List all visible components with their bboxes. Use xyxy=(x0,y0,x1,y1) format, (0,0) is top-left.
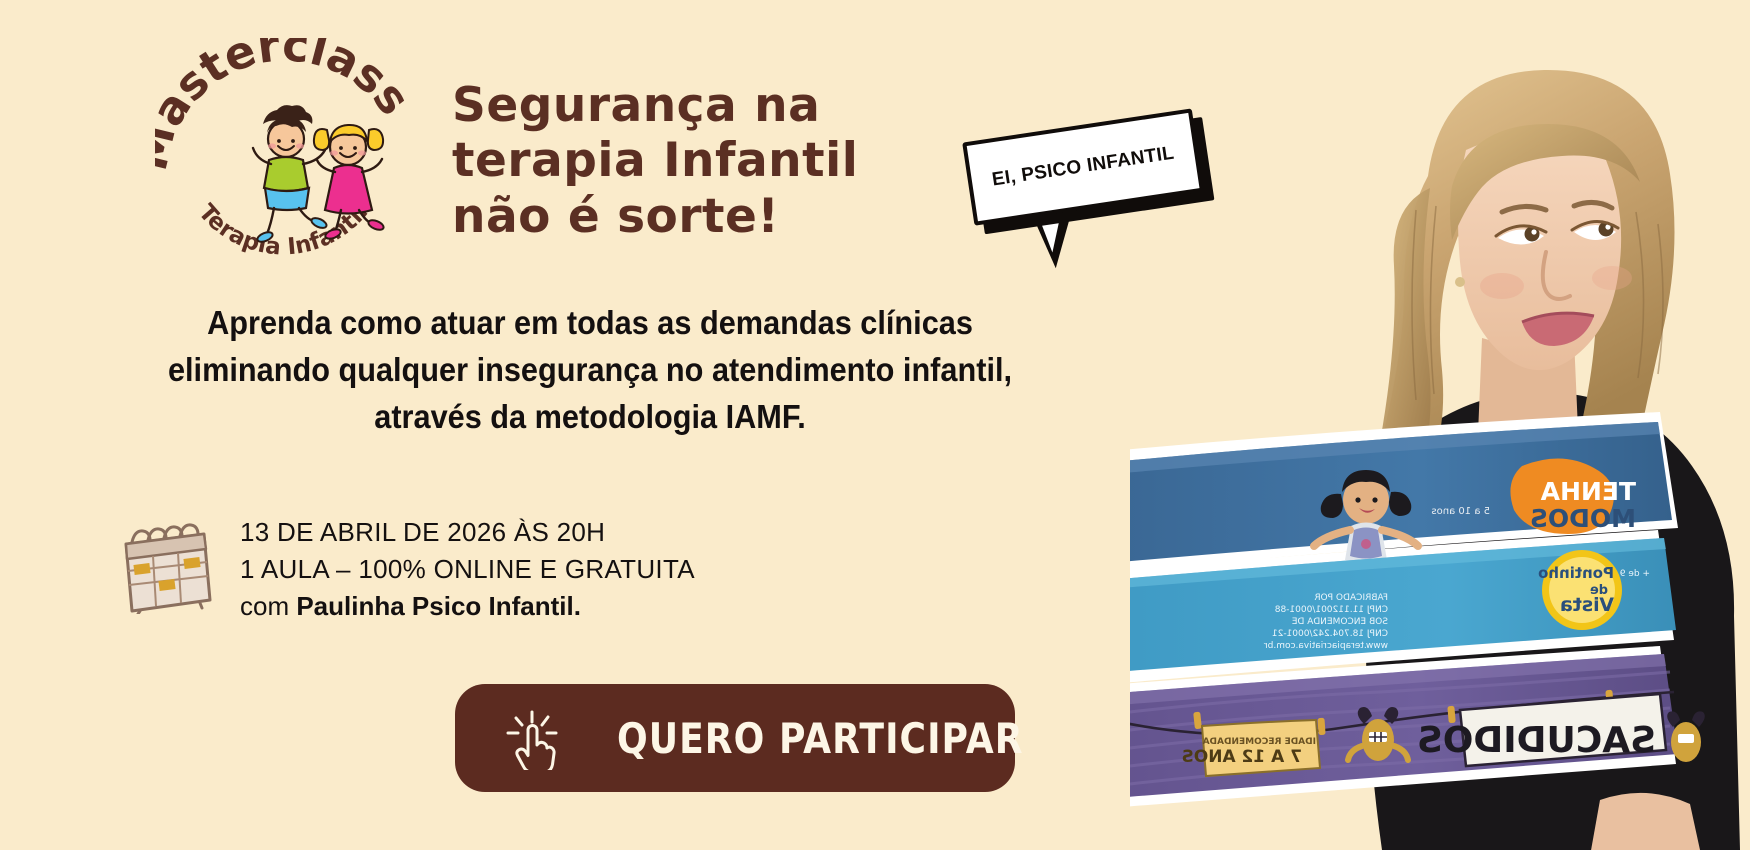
calendar-icon xyxy=(118,516,218,614)
event-info-lines: 13 DE ABRIL DE 2026 ÀS 20H 1 AULA – 100%… xyxy=(240,510,695,626)
svg-text:www.terapiacriativa.com.br: www.terapiacriativa.com.br xyxy=(1264,641,1388,651)
svg-text:CNPJ 11.112001/0001-88: CNPJ 11.112001/0001-88 xyxy=(1274,605,1388,615)
presenter-photo-artwork: TENHA MODOS 5 a 10 anos FABRICADO POR CN… xyxy=(1130,0,1750,850)
svg-text:MODOS: MODOS xyxy=(1530,504,1636,533)
event-host-line: com Paulinha Psico Infantil. xyxy=(240,588,695,625)
svg-text:IDADE RECOMENDADA: IDADE RECOMENDADA xyxy=(1203,737,1316,747)
host-prefix: com xyxy=(240,591,296,621)
svg-text:Vista: Vista xyxy=(1560,594,1614,616)
svg-text:CNPJ 18.704.242/0001-21: CNPJ 18.704.242/0001-21 xyxy=(1272,629,1388,639)
host-name: Paulinha Psico Infantil. xyxy=(296,591,581,621)
presenter-photo: TENHA MODOS 5 a 10 anos FABRICADO POR CN… xyxy=(1130,0,1750,850)
subheading: Aprenda como atuar em todas as demandas … xyxy=(97,300,1083,441)
event-format-line: 1 AULA – 100% ONLINE E GRATUITA xyxy=(240,551,695,588)
svg-text:TENHA: TENHA xyxy=(1540,477,1636,506)
presenter-hand xyxy=(1590,793,1700,850)
cta-button-label: QUERO PARTICIPAR xyxy=(617,714,1024,763)
svg-text:SOB ENCOMENDA DE: SOB ENCOMENDA DE xyxy=(1291,617,1388,627)
event-date-line: 13 DE ABRIL DE 2026 ÀS 20H xyxy=(240,514,695,551)
logo-artwork: Masterclass Terapia Infantil xyxy=(155,38,420,268)
svg-text:FABRICADO POR: FABRICADO POR xyxy=(1314,593,1388,603)
quero-participar-button[interactable]: QUERO PARTICIPAR xyxy=(455,684,1015,792)
svg-text:SACUDIDOS: SACUDIDOS xyxy=(1417,720,1656,761)
svg-text:5 a 10 anos: 5 a 10 anos xyxy=(1431,506,1490,517)
event-info-block: 13 DE ABRIL DE 2026 ÀS 20H 1 AULA – 100%… xyxy=(118,510,695,626)
svg-text:+ de 9: + de 9 xyxy=(1619,569,1650,579)
svg-text:7 A 12 ANOS: 7 A 12 ANOS xyxy=(1182,747,1302,767)
svg-text:Pontinho: Pontinho xyxy=(1538,564,1614,582)
promo-banner: Masterclass Terapia Infantil xyxy=(0,0,1750,850)
click-hand-icon xyxy=(503,706,565,770)
logo-boy-figure xyxy=(253,105,328,244)
masterclass-logo: Masterclass Terapia Infantil xyxy=(155,38,420,268)
